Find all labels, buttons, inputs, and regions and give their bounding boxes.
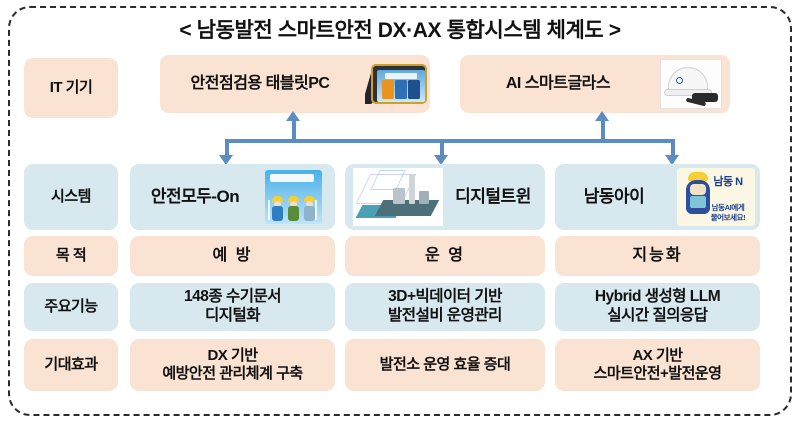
device-label: 안전점검용 태블릿PC [160,74,360,94]
system-architecture-diagram: < 남동발전 스마트안전 DX·AX 통합시스템 체계도 > IT 기기 시스템… [0,0,800,425]
plant-smokestack [409,174,415,204]
worker-figure [287,196,300,222]
poster-background [265,170,322,224]
tablet-screen [377,70,425,102]
purpose-card-operation: 운 영 [345,236,545,276]
function-line2: 발전설비 운영관리 [388,307,502,326]
purpose-card-intelligence: 지능화 [555,236,760,276]
digital-twin-scene [353,168,443,226]
row-label-text: 목 적 [56,247,86,265]
purpose-card-prevention: 예 방 [130,236,335,276]
namdong-logo-text: 남동 N [705,174,751,190]
mascot-cta-line2: 물어보세요! [703,213,753,222]
worker-body [304,206,315,221]
row-label-text: 주요기능 [44,298,97,316]
system-card-namdong-ai: 남동아이 남동 N 남동AI에게 물어보세요! [555,164,760,230]
purpose-label: 지능화 [632,246,682,266]
effect-card-efficiency: 발전소 운영 효율 증대 [345,339,545,391]
device-card-tablet: 안전점검용 태블릿PC [160,55,430,113]
namdong-ai-mascot-icon: 남동 N 남동AI에게 물어보세요! [677,168,755,226]
mascot-card-background: 남동 N 남동AI에게 물어보세요! [677,168,755,226]
system-card-digital-twin: 디지털트윈 [345,164,545,230]
effect-card-ax-based: AX 기반 스마트안전+발전운영 [555,339,760,391]
device-card-smart-glasses: AI 스마트글라스 [460,55,730,113]
page-title: < 남동발전 스마트안전 DX·AX 통합시스템 체계도 > [0,14,800,44]
function-line2: 디지털화 [205,307,260,326]
helmet-logo-dot [676,77,683,84]
plant-building [419,191,429,204]
plant-building [393,188,405,204]
digital-twin-plant-icon [353,168,443,226]
mascot-cta-line1: 남동AI에게 [703,203,753,212]
row-label-text: 시스템 [51,188,91,206]
poster-title-band [270,174,314,182]
function-line1: Hybrid 생성형 LLM [595,288,720,307]
device-label: AI 스마트글라스 [460,74,656,94]
worker-figure [271,196,284,222]
worker-figure [303,196,316,222]
tablet-screen-logo [385,73,417,79]
system-label: 디지털트윈 [445,187,541,208]
tablet-screen-card [382,80,394,99]
arrow-up-icon-glasses [595,111,609,121]
row-label-text: 기대효과 [44,356,97,374]
smart-glasses-helmet-icon [660,59,722,109]
effect-line1: DX 기반 [207,347,257,365]
row-label-text: IT 기기 [50,79,93,97]
connector-up-tablet [292,120,296,141]
function-line1: 148종 수기문서 [184,288,281,307]
row-label-purpose: 목 적 [24,236,118,276]
effect-line2: 스마트안전+발전운영 [594,365,722,383]
worker-body [288,206,299,221]
plant-ground [375,200,440,216]
system-label: 남동아이 [555,187,673,208]
safety-poster-icon [265,170,322,224]
effect-line1: 발전소 운영 효율 증대 [380,356,511,374]
wind-turbine [268,200,270,220]
system-card-safety-all-on: 안전모두-On [130,164,335,230]
row-label-main-function: 주요기능 [24,283,118,331]
effect-card-dx-based: DX 기반 예방안전 관리체계 구축 [130,339,335,391]
mascot-face [690,184,706,195]
function-card-plant-operation: 3D+빅데이터 기반 발전설비 운영관리 [345,283,545,331]
tablet-body [371,64,427,104]
tablet-screen-card [408,80,420,99]
purpose-label: 운 영 [425,246,465,266]
tablet-pc-icon [365,60,430,108]
worker-body [272,206,283,221]
system-label: 안전모두-On [130,187,260,208]
purpose-label: 예 방 [213,246,253,266]
function-line2: 실시간 질의응답 [607,307,707,326]
mascot-cta-text: 남동AI에게 물어보세요! [703,203,753,222]
connector-up-glasses [601,120,605,141]
function-card-llm-qa: Hybrid 생성형 LLM 실시간 질의응답 [555,283,760,331]
row-label-system: 시스템 [24,164,118,230]
effect-line2: 예방안전 관리체계 구축 [162,365,302,383]
tablet-screen-card [395,80,407,99]
row-label-it-devices: IT 기기 [24,58,118,118]
function-card-digitalization: 148종 수기문서 디지털화 [130,283,335,331]
arrow-up-icon-tablet [286,111,300,121]
function-line1: 3D+빅데이터 기반 [388,288,502,307]
row-label-expected-effect: 기대효과 [24,339,118,391]
effect-line1: AX 기반 [632,347,682,365]
